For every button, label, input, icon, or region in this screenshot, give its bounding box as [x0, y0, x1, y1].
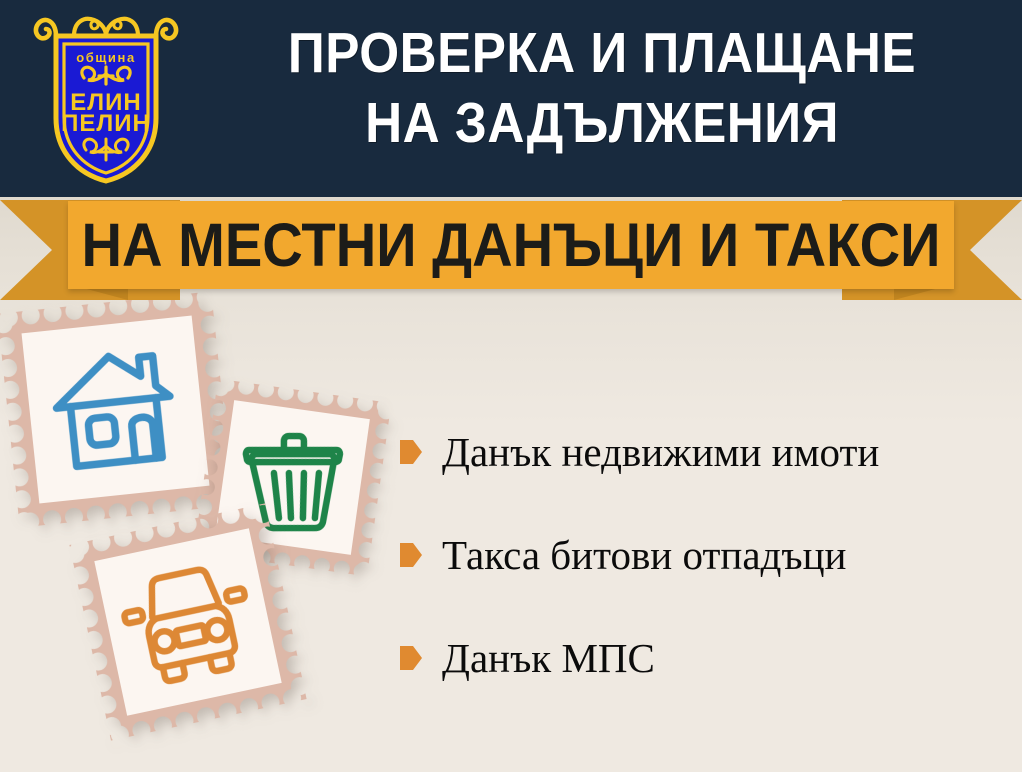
list-item-label: Данък МПС — [442, 634, 655, 682]
arrow-bullet-icon — [400, 543, 422, 567]
municipality-logo: община ЕЛИН ПЕЛИН — [22, 6, 190, 190]
list-item[interactable]: Данък МПС — [400, 630, 1012, 686]
arrow-bullet-icon — [400, 646, 422, 670]
list-item-label: Данък недвижими имоти — [442, 428, 879, 476]
stamp-card-car — [69, 503, 306, 740]
list-item[interactable]: Такса битови отпадъци — [400, 527, 1012, 583]
stamp-collage — [0, 300, 420, 772]
list-item[interactable]: Данък недвижими имоти — [400, 424, 1012, 480]
svg-text:община: община — [76, 50, 136, 65]
list-item-label: Такса битови отпадъци — [442, 531, 846, 579]
page-title: ПРОВЕРКА И ПЛАЩАНЕ НА ЗАДЪЛЖЕНИЯ — [237, 18, 968, 158]
page-title-line-1: ПРОВЕРКА И ПЛАЩАНЕ — [288, 21, 916, 85]
arrow-bullet-icon — [400, 440, 422, 464]
stamp-card-house — [0, 291, 234, 527]
tax-type-list: Данък недвижими имоти Такса битови отпад… — [400, 424, 1012, 686]
ribbon-label: НА МЕСТНИ ДАНЪЦИ И ТАКСИ — [103, 201, 918, 289]
ribbon-band: НА МЕСТНИ ДАНЪЦИ И ТАКСИ — [68, 201, 954, 289]
page-title-line-2: НА ЗАДЪЛЖЕНИЯ — [237, 88, 968, 158]
ribbon-banner: НА МЕСТНИ ДАНЪЦИ И ТАКСИ — [0, 196, 1022, 306]
svg-text:ПЕЛИН: ПЕЛИН — [61, 110, 151, 137]
poster-canvas: община ЕЛИН ПЕЛИН — [0, 0, 1022, 772]
header-bar: община ЕЛИН ПЕЛИН — [0, 0, 1022, 197]
